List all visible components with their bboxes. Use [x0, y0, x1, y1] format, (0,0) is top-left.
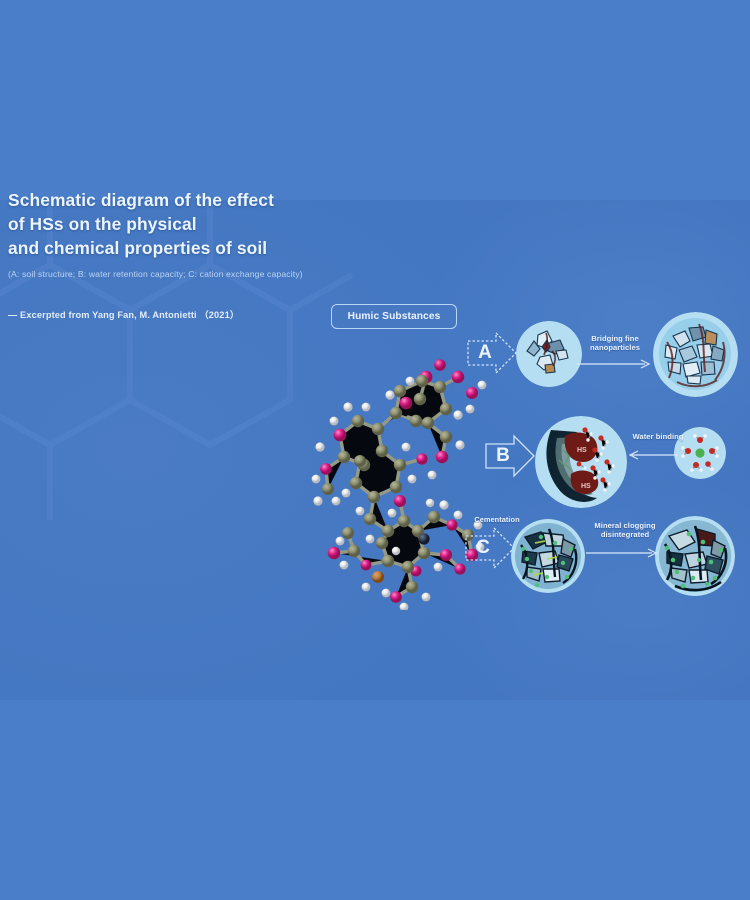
humic-substance-molecule — [300, 325, 490, 610]
arrow-water-binding — [626, 448, 678, 462]
arrow-mineral-clogging — [586, 546, 660, 560]
arrow-bridging — [577, 357, 653, 371]
svg-text:HS: HS — [577, 447, 587, 454]
subtitle: (A: soil structure; B: water retention c… — [8, 269, 338, 280]
caption-mineral-line-2: disintegrated — [577, 530, 673, 539]
caption-cementation: Cementation — [466, 515, 528, 524]
svg-text:HS: HS — [581, 483, 591, 490]
top-band — [0, 0, 750, 200]
caption-mineral-clogging: Mineral clogging disintegrated — [577, 521, 673, 540]
marker-b: B — [484, 434, 536, 478]
poster-root: Schematic diagram of the effect of HSs o… — [0, 0, 750, 900]
bottom-band — [0, 700, 750, 900]
bubble-soil-aggregate-after — [653, 312, 738, 397]
marker-a-letter: A — [472, 331, 498, 375]
marker-a: A — [466, 331, 518, 375]
caption-mineral-line-1: Mineral clogging — [577, 521, 673, 530]
title-line-3: and chemical properties of soil — [8, 236, 338, 260]
caption-bridging-line-2: nanoparticles — [577, 343, 653, 352]
caption-bridging-line-1: Bridging fine — [577, 334, 653, 343]
marker-c-letter: C — [470, 526, 496, 570]
title-line-1: Schematic diagram of the effect — [8, 188, 338, 212]
credit-line: — Excerpted from Yang Fan, M. Antonietti… — [8, 307, 338, 321]
title-line-2: of HSs on the physical — [8, 212, 338, 236]
bubble-cemented-minerals — [511, 519, 585, 593]
bubble-water-retention: HS HS — [535, 416, 627, 508]
humic-substances-text: Humic Substances — [348, 311, 441, 322]
caption-bridging: Bridging fine nanoparticles — [577, 334, 653, 353]
marker-b-letter: B — [490, 434, 516, 478]
bubble-soil-particles-before — [516, 321, 582, 387]
caption-water-binding: Water binding — [630, 432, 686, 441]
marker-c: C — [464, 526, 516, 570]
title-block: Schematic diagram of the effect of HSs o… — [8, 188, 338, 280]
page-title: Schematic diagram of the effect of HSs o… — [8, 188, 338, 260]
